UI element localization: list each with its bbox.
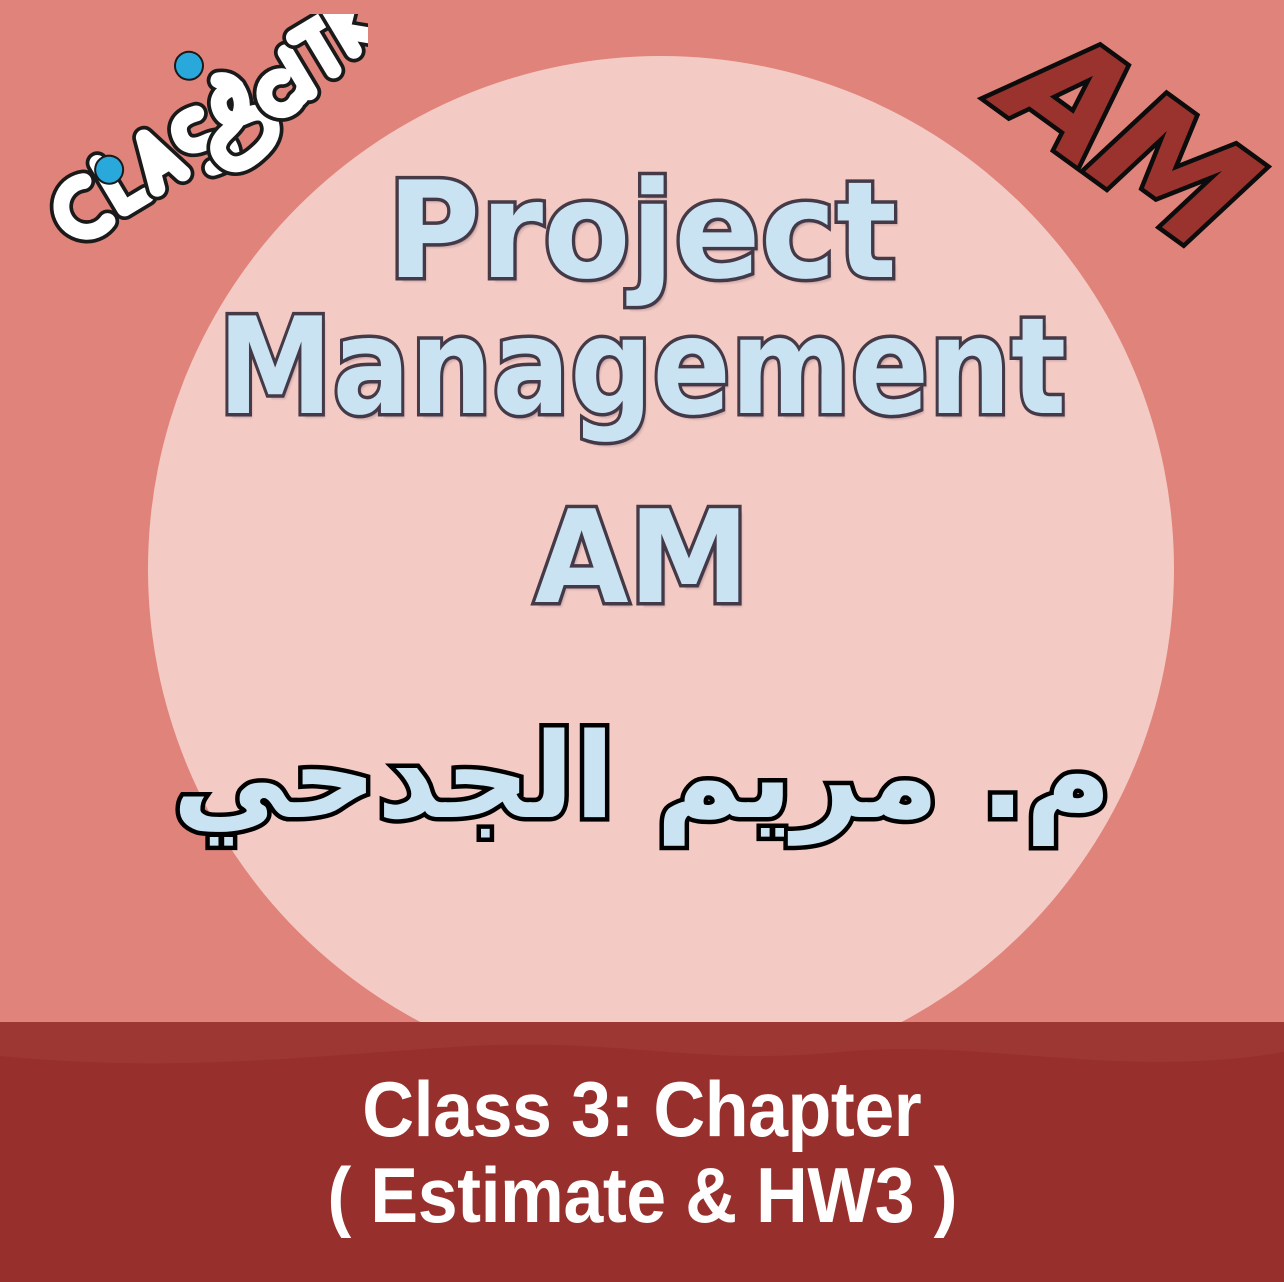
logo-accent-dot	[170, 47, 208, 85]
page-title-line-2: Management	[90, 300, 1194, 434]
banner-line-2: ( Estimate & HW3 )	[327, 1157, 957, 1233]
instructor-name-arabic: م. مريم الجدحي	[0, 700, 1284, 853]
banner-text-group: Class 3: Chapter ( Estimate & HW3 )	[0, 1022, 1284, 1282]
banner-line-1: Class 3: Chapter	[363, 1071, 922, 1147]
course-title-slide: AM Project Management AM م. مريم الجدحي …	[0, 0, 1284, 1282]
page-title-line-1: Project	[32, 164, 1252, 298]
page-title-line-3: AM	[32, 495, 1252, 623]
bottom-banner: Class 3: Chapter ( Estimate & HW3 )	[0, 1022, 1284, 1282]
